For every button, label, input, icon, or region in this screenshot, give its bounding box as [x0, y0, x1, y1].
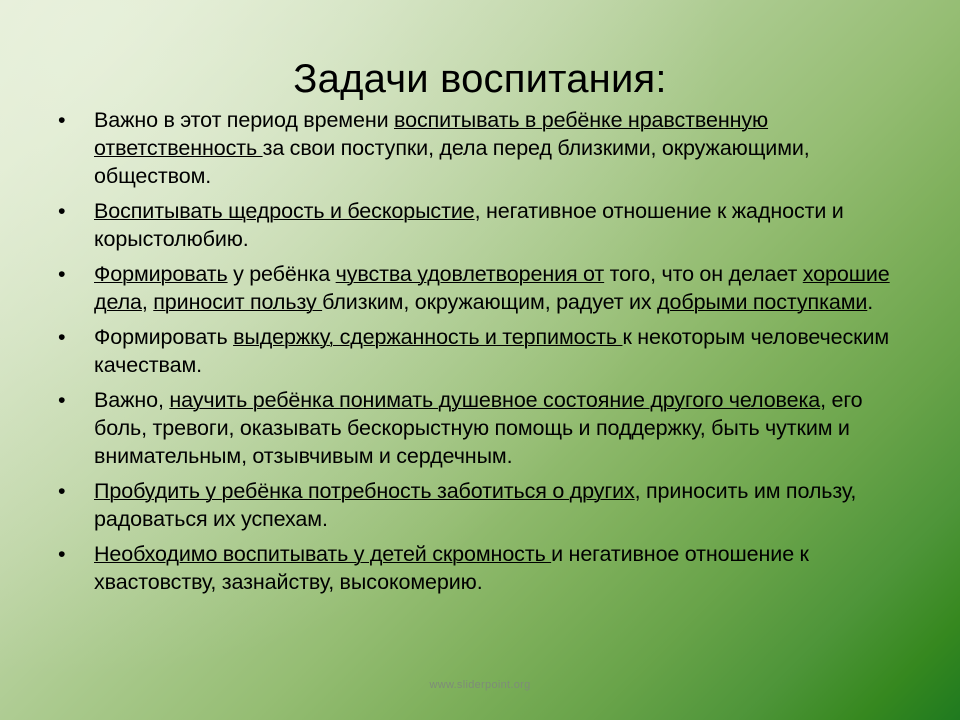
list-item: •Формировать выдержку, сдержанность и те… — [52, 323, 918, 379]
plain-run: близким, окружающим, радует их — [322, 290, 657, 314]
list-item: •Формировать у ребёнка чувства удовлетво… — [52, 260, 918, 316]
emphasis-underlined-run: Воспитывать щедрость и бескорыстие — [94, 199, 475, 223]
emphasis-underlined-run: Формировать — [94, 262, 228, 286]
bullet-dot-icon: • — [58, 323, 72, 351]
bullet-dot-icon: • — [58, 106, 72, 134]
plain-run: Важно, — [94, 388, 169, 412]
list-item: •Воспитывать щедрость и бескорыстие, нег… — [52, 197, 918, 253]
slide-canvas: Задачи воспитания: •Важно в этот период … — [0, 0, 960, 720]
list-item-text: Формировать выдержку, сдержанность и тер… — [94, 325, 889, 377]
plain-run: у ребёнка — [228, 262, 336, 286]
list-item-text: Важно в этот период времени воспитывать … — [94, 108, 810, 188]
emphasis-underlined-run: добрыми поступками — [657, 290, 867, 314]
footer-watermark: www.sliderpoint.org — [0, 678, 960, 692]
list-item-text: Необходимо воспитывать у детей скромност… — [94, 542, 809, 594]
emphasis-underlined-run: приносит пользу — [153, 290, 322, 314]
emphasis-underlined-run: Необходимо воспитывать у детей скромност… — [94, 542, 551, 566]
bullet-dot-icon: • — [58, 197, 72, 225]
bullet-dot-icon: • — [58, 386, 72, 414]
bullet-list: •Важно в этот период времени воспитывать… — [52, 106, 918, 596]
list-item-text: Воспитывать щедрость и бескорыстие, нега… — [94, 199, 844, 251]
list-item-text: Пробудить у ребёнка потребность заботить… — [94, 479, 856, 531]
list-item: •Необходимо воспитывать у детей скромнос… — [52, 540, 918, 596]
bullet-dot-icon: • — [58, 540, 72, 568]
bullet-dot-icon: • — [58, 477, 72, 505]
plain-run: , — [142, 290, 153, 314]
list-item-text: Формировать у ребёнка чувства удовлетвор… — [94, 262, 890, 314]
emphasis-underlined-run: выдержку, сдержанность и терпимость — [233, 325, 622, 349]
plain-run: Важно в этот период времени — [94, 108, 394, 132]
list-item: •Важно, научить ребёнка понимать душевно… — [52, 386, 918, 470]
plain-run: . — [867, 290, 873, 314]
plain-run: Формировать — [94, 325, 233, 349]
bullet-dot-icon: • — [58, 260, 72, 288]
list-item-text: Важно, научить ребёнка понимать душевное… — [94, 388, 862, 468]
page-title: Задачи воспитания: — [0, 53, 960, 105]
emphasis-underlined-run: чувства удовлетворения от — [336, 262, 605, 286]
list-item: •Важно в этот период времени воспитывать… — [52, 106, 918, 190]
emphasis-underlined-run: Пробудить у ребёнка потребность заботить… — [94, 479, 635, 503]
plain-run: того, что он делает — [604, 262, 803, 286]
list-item: •Пробудить у ребёнка потребность заботит… — [52, 477, 918, 533]
emphasis-underlined-run: научить ребёнка понимать душевное состоя… — [169, 388, 820, 412]
